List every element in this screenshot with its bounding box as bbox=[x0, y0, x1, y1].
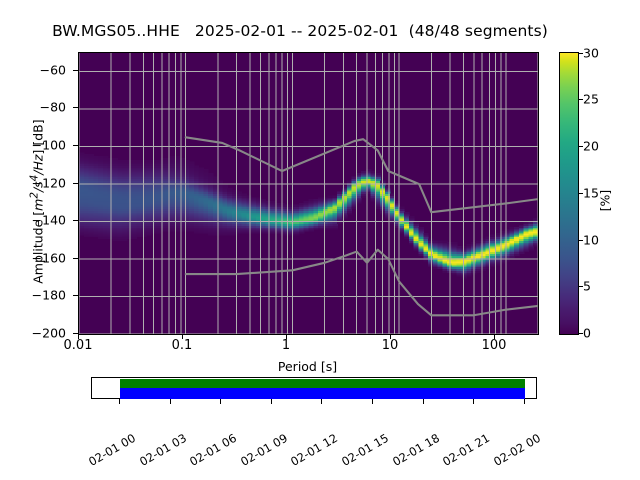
time-tick-mark bbox=[271, 399, 272, 404]
ppsd-figure: BW.MGS05..HHE 2025-02-01 -- 2025-02-01 (… bbox=[0, 0, 640, 480]
y-tick-label: −120 bbox=[6, 176, 66, 191]
time-tick-mark bbox=[473, 399, 474, 404]
colorbar-tick-label: 5 bbox=[583, 279, 591, 294]
y-tick-label: −160 bbox=[6, 251, 66, 266]
page-title: BW.MGS05..HHE 2025-02-01 -- 2025-02-01 (… bbox=[0, 22, 600, 40]
time-tick-mark bbox=[170, 399, 171, 404]
time-tick-label: 02-01 15 bbox=[339, 431, 391, 469]
time-tick-label: 02-01 18 bbox=[390, 431, 442, 469]
colorbar-tick-label: 30 bbox=[583, 46, 599, 61]
time-tick-label: 02-02 00 bbox=[491, 431, 543, 469]
time-tick-mark bbox=[119, 399, 120, 404]
colorbar-tick-label: 0 bbox=[583, 326, 591, 341]
data-coverage-green bbox=[120, 379, 525, 388]
time-tick-mark bbox=[372, 399, 373, 404]
colorbar-tick-label: 25 bbox=[583, 92, 599, 107]
time-tick-label: 02-01 12 bbox=[288, 431, 340, 469]
time-tick-label: 02-01 06 bbox=[187, 431, 239, 469]
y-tick-label: −200 bbox=[6, 326, 66, 341]
colorbar-tick-label: 10 bbox=[583, 233, 599, 248]
time-tick-mark bbox=[524, 399, 525, 404]
time-tick-mark bbox=[423, 399, 424, 404]
x-tick-label: 0.1 bbox=[172, 338, 193, 353]
x-tick-label: 0.01 bbox=[64, 338, 93, 353]
colorbar[interactable] bbox=[559, 52, 579, 335]
time-tick-label: 02-01 21 bbox=[440, 431, 492, 469]
y-tick-label: −100 bbox=[6, 138, 66, 153]
x-tick-label: 1 bbox=[282, 338, 290, 353]
time-tick-mark bbox=[321, 399, 322, 404]
data-coverage-blue bbox=[120, 388, 525, 399]
y-tick-label: −80 bbox=[6, 100, 66, 115]
x-tick-label: 10 bbox=[382, 338, 399, 353]
time-tick-label: 02-01 09 bbox=[238, 431, 290, 469]
colorbar-tick-label: 20 bbox=[583, 139, 599, 154]
ppsd-plot-area[interactable] bbox=[78, 52, 539, 335]
y-tick-label: −180 bbox=[6, 288, 66, 303]
colorbar-label: [%] bbox=[598, 156, 613, 246]
x-tick-label: 100 bbox=[482, 338, 507, 353]
y-tick-label: −60 bbox=[6, 63, 66, 78]
data-coverage-strip[interactable] bbox=[91, 377, 537, 399]
time-tick-label: 02-01 00 bbox=[86, 431, 138, 469]
colorbar-tick-label: 15 bbox=[583, 186, 599, 201]
x-axis-label: Period [s] bbox=[78, 359, 537, 374]
time-tick-mark bbox=[220, 399, 221, 404]
y-tick-label: −140 bbox=[6, 213, 66, 228]
time-tick-label: 02-01 03 bbox=[137, 431, 189, 469]
